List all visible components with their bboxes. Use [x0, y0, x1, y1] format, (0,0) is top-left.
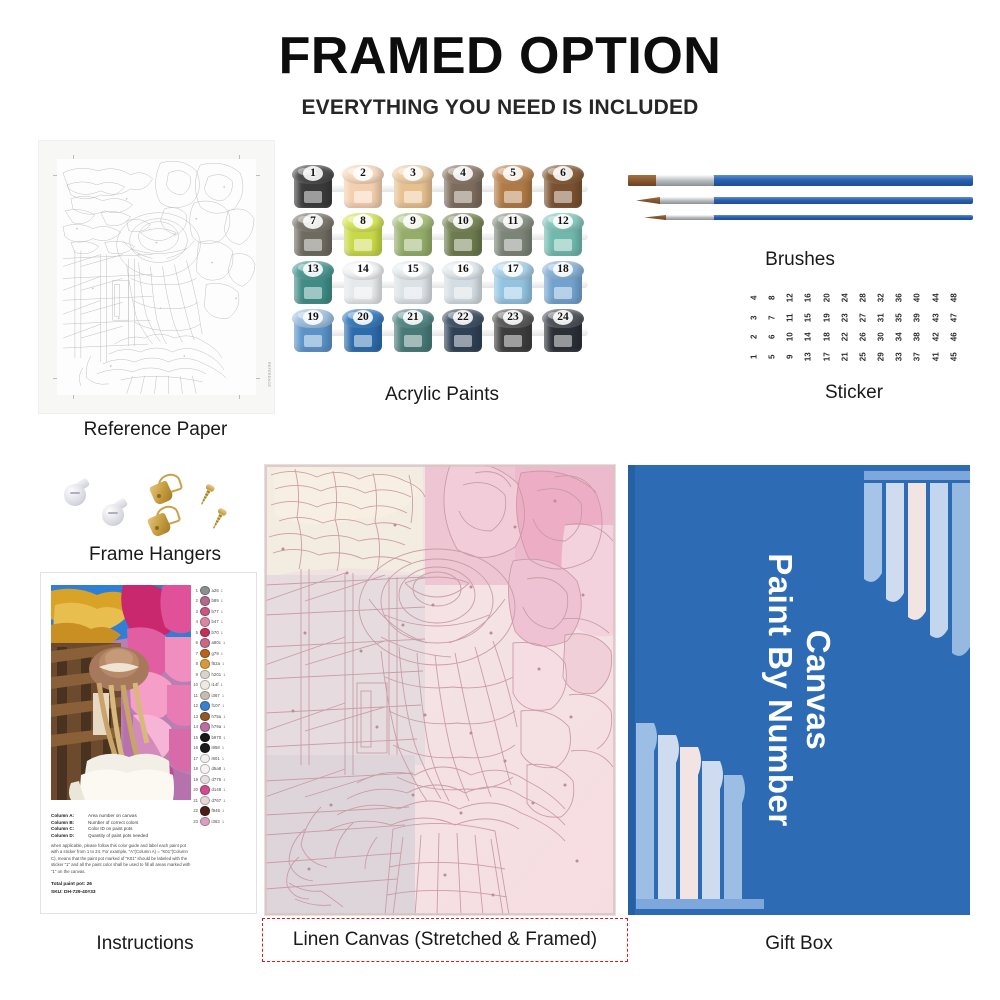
legend-code: a80c [212, 640, 221, 645]
legend-row: 9h2011 [190, 669, 248, 680]
wall-plug [102, 500, 128, 526]
paint-pot-number: 10 [442, 215, 484, 227]
legend-index: 10 [190, 682, 198, 687]
legend-swatch [200, 586, 210, 596]
screw [197, 483, 215, 507]
caption-gift-box: Gift Box [628, 934, 970, 955]
brushes-group [628, 175, 973, 245]
legend-row: 10i14f1 [190, 680, 248, 691]
legend-index: 13 [190, 714, 198, 719]
sticker-number-17: 17 [817, 347, 837, 365]
page-title: FRAMED OPTION [0, 30, 1000, 82]
paint-pot-slot [504, 239, 522, 251]
legend-code: b70 [212, 630, 219, 635]
legend-qty: 1 [223, 724, 225, 729]
paint-pot-18: 18 [542, 261, 584, 305]
paint-pot-slot [554, 335, 572, 347]
legend-code: i363 [212, 819, 220, 824]
sticker-number-8: 8 [762, 289, 782, 307]
paint-pot-number: 7 [292, 215, 334, 227]
legend-swatch [200, 796, 210, 806]
paint-pot-number: 21 [392, 311, 434, 323]
instructions-column-desc: Number of correct colors [88, 820, 138, 825]
legend-code: b970 [212, 735, 222, 740]
paint-pot-slot [504, 335, 522, 347]
paint-pot-23: 23 [492, 309, 534, 353]
instructions-column-desc: Area number on canvas [88, 813, 137, 818]
paint-pot-7: 7 [292, 213, 334, 257]
legend-row: 13h75a1 [190, 711, 248, 722]
sticker-number-25: 25 [853, 347, 873, 365]
paint-pot-number: 17 [492, 263, 534, 275]
legend-row: 6a80c1 [190, 638, 248, 649]
legend-code: h201 [212, 672, 222, 677]
legend-qty: 1 [222, 745, 224, 750]
legend-row: 4b471 [190, 617, 248, 628]
sticker-number-26: 26 [853, 328, 873, 346]
paint-pot-9: 9 [392, 213, 434, 257]
legend-swatch [200, 659, 210, 669]
paint-pot-8: 8 [342, 213, 384, 257]
sticker-number-38: 38 [908, 328, 928, 346]
legend-code: h75a [212, 714, 222, 719]
legend-code: g79 [212, 651, 219, 656]
product-infographic: FRAMED OPTION EVERYTHING YOU NEED IS INC… [0, 0, 1000, 1000]
canvas-lineart [265, 465, 615, 915]
legend-row: 2b891 [190, 596, 248, 607]
instructions-column-key: Column B: [51, 820, 83, 825]
legend-qty: 1 [223, 798, 225, 803]
instructions-column-key: Column C: [51, 826, 83, 831]
paint-pot-number: 15 [392, 263, 434, 275]
sticker-number-31: 31 [871, 308, 891, 326]
paint-pot-slot [354, 335, 372, 347]
sticker-number-24: 24 [835, 289, 855, 307]
sticker-number-36: 36 [890, 289, 910, 307]
instructions-sku: SKU: DH-729-40#33 [51, 889, 191, 897]
legend-qty: 1 [223, 672, 225, 677]
paint-pot-number: 14 [342, 263, 384, 275]
legend-index: 11 [190, 693, 198, 698]
sticker-number-16: 16 [799, 289, 819, 307]
legend-row: 17i9011 [190, 753, 248, 764]
caption-brushes: Brushes [700, 250, 900, 271]
legend-row: 19d7761 [190, 774, 248, 785]
sticker-number-28: 28 [853, 289, 873, 307]
legend-index: 8 [190, 661, 198, 666]
legend-swatch [200, 628, 210, 638]
legend-swatch [200, 754, 210, 764]
legend-qty: 1 [221, 630, 223, 635]
paint-pot-21: 21 [392, 309, 434, 353]
linen-canvas-product [265, 465, 615, 915]
legend-swatch [200, 596, 210, 606]
legend-row: 21d7671 [190, 795, 248, 806]
legend-index: 17 [190, 756, 198, 761]
paint-pot-number: 16 [442, 263, 484, 275]
legend-index: 18 [190, 766, 198, 771]
paint-pot-number: 19 [292, 311, 334, 323]
sticker-number-5: 5 [762, 347, 782, 365]
caption-sticker: Sticker [745, 383, 963, 404]
flat-brush [628, 175, 973, 186]
sticker-sheet: 4812162024283236404448371115192327313539… [745, 288, 963, 366]
legend-swatch [200, 743, 210, 753]
sticker-number-2: 2 [744, 328, 764, 346]
legend-swatch [200, 785, 210, 795]
legend-swatch [200, 649, 210, 659]
legend-swatch [200, 817, 210, 827]
paint-pot-number: 20 [342, 311, 384, 323]
reference-paper-lineart [57, 159, 256, 395]
instructions-color-legend: 1a2612b8913b7714b4715b7016a80c17g7918f62… [190, 585, 248, 885]
sticker-number-21: 21 [835, 347, 855, 365]
legend-code: d767 [212, 798, 222, 803]
paint-pot-19: 19 [292, 309, 334, 353]
legend-code: d5a8 [212, 766, 222, 771]
sticker-number-37: 37 [908, 347, 928, 365]
detail-brush [644, 215, 973, 220]
paint-pot-number: 22 [442, 311, 484, 323]
paint-pot-slot [454, 191, 472, 203]
paint-pot-24: 24 [542, 309, 584, 353]
paint-pot-slot [554, 287, 572, 299]
frame-hangers-group [62, 470, 242, 540]
legend-code: f62a [212, 661, 221, 666]
legend-row: 15b9701 [190, 732, 248, 743]
d-ring-hanger [148, 506, 176, 536]
legend-swatch [200, 670, 210, 680]
sticker-number-44: 44 [926, 289, 946, 307]
legend-index: 7 [190, 651, 198, 656]
sticker-number-22: 22 [835, 328, 855, 346]
legend-swatch [200, 722, 210, 732]
instructions-color-preview [51, 585, 191, 800]
paint-pot-number: 3 [392, 167, 434, 179]
legend-qty: 1 [221, 598, 223, 603]
round-brush [636, 197, 973, 204]
instructions-column-row: Column B:Number of correct colors [51, 820, 191, 825]
sticker-number-20: 20 [817, 289, 837, 307]
legend-swatch [200, 680, 210, 690]
paint-pot-slot [554, 239, 572, 251]
legend-swatch [200, 607, 210, 617]
legend-index: 14 [190, 724, 198, 729]
legend-code: b47 [212, 619, 219, 624]
legend-index: 4 [190, 619, 198, 624]
legend-qty: 1 [221, 619, 223, 624]
instructions-sheet: 1a2612b8913b7714b4715b7016a80c17g7918f62… [40, 572, 257, 914]
legend-row: 3b771 [190, 606, 248, 617]
legend-swatch [200, 806, 210, 816]
legend-qty: 1 [221, 588, 223, 593]
paint-pot-11: 11 [492, 213, 534, 257]
sticker-number-48: 48 [944, 289, 964, 307]
sticker-number-32: 32 [871, 289, 891, 307]
legend-code: i958 [212, 745, 220, 750]
paint-pot-slot [404, 335, 422, 347]
legend-index: 15 [190, 735, 198, 740]
screw [209, 507, 227, 531]
sticker-number-29: 29 [871, 347, 891, 365]
caption-instructions: Instructions [30, 934, 260, 955]
paint-pot-number: 4 [442, 167, 484, 179]
paint-pot-slot [354, 191, 372, 203]
gift-box-title: Canvas Paint By Number [761, 553, 837, 826]
sticker-number-45: 45 [944, 347, 964, 365]
sticker-number-12: 12 [781, 289, 801, 307]
paint-pot-slot [454, 335, 472, 347]
legend-qty: 1 [223, 777, 225, 782]
legend-index: 5 [190, 630, 198, 635]
legend-swatch [200, 775, 210, 785]
legend-row: 18d5a81 [190, 764, 248, 775]
instructions-text-block: Column A:Area number on canvasColumn B:N… [51, 813, 191, 897]
sticker-number-43: 43 [926, 308, 946, 326]
sticker-number-7: 7 [762, 308, 782, 326]
legend-index: 6 [190, 640, 198, 645]
instructions-column-row: Column A:Area number on canvas [51, 813, 191, 818]
paint-pot-slot [304, 191, 322, 203]
sticker-number-27: 27 [853, 308, 873, 326]
legend-index: 22 [190, 808, 198, 813]
legend-qty: 1 [223, 735, 225, 740]
instructions-column-desc: Quantity of paint pots needed [88, 833, 148, 838]
sticker-number-14: 14 [799, 328, 819, 346]
sticker-number-11: 11 [781, 308, 801, 326]
paint-pot-number: 6 [542, 167, 584, 179]
legend-swatch [200, 764, 210, 774]
legend-row: 22f9461 [190, 806, 248, 817]
legend-index: 20 [190, 787, 198, 792]
legend-row: 20d1481 [190, 785, 248, 796]
legend-qty: 1 [223, 766, 225, 771]
legend-code: b89 [212, 598, 219, 603]
lineart-svg [57, 159, 256, 394]
paint-pot-number: 1 [292, 167, 334, 179]
paint-pot-4: 4 [442, 165, 484, 209]
legend-swatch [200, 691, 210, 701]
legend-qty: 1 [223, 640, 225, 645]
legend-qty: 1 [222, 819, 224, 824]
caption-acrylic-paints: Acrylic Paints [292, 385, 592, 406]
d-ring-hanger [150, 474, 178, 504]
legend-code: i367 [212, 693, 220, 698]
reference-paper-panel: REFERENCE [38, 140, 275, 414]
legend-row: 5b701 [190, 627, 248, 638]
legend-row: 14h79a1 [190, 722, 248, 733]
legend-code: d776 [212, 777, 222, 782]
legend-qty: 1 [222, 756, 224, 761]
paint-pot-number: 12 [542, 215, 584, 227]
legend-qty: 1 [222, 703, 224, 708]
legend-index: 9 [190, 672, 198, 677]
acrylic-paints-group: 123456789101112131415161718192021222324 [292, 165, 592, 365]
paint-pot-number: 8 [342, 215, 384, 227]
paint-pot-number: 11 [492, 215, 534, 227]
paint-pot-slot [304, 287, 322, 299]
gift-box-line2: Paint By Number [762, 553, 799, 826]
sticker-number-30: 30 [871, 328, 891, 346]
paint-pot-13: 13 [292, 261, 334, 305]
legend-qty: 1 [222, 808, 224, 813]
legend-row: 23i3631 [190, 816, 248, 827]
sticker-number-10: 10 [781, 328, 801, 346]
legend-qty: 1 [223, 787, 225, 792]
sticker-number-4: 4 [744, 289, 764, 307]
paint-pot-slot [304, 335, 322, 347]
sticker-number-3: 3 [744, 308, 764, 326]
legend-index: 23 [190, 819, 198, 824]
paint-pot-number: 23 [492, 311, 534, 323]
sticker-number-1: 1 [744, 347, 764, 365]
instructions-column-row: Column D:Quantity of paint pots needed [51, 833, 191, 838]
legend-row: 16i9581 [190, 743, 248, 754]
sticker-number-19: 19 [817, 308, 837, 326]
legend-index: 19 [190, 777, 198, 782]
sticker-number-6: 6 [762, 328, 782, 346]
paint-pot-slot [404, 239, 422, 251]
sticker-number-42: 42 [926, 328, 946, 346]
paint-pot-6: 6 [542, 165, 584, 209]
paint-pot-2: 2 [342, 165, 384, 209]
legend-qty: 1 [221, 651, 223, 656]
gift-box-product: Canvas Paint By Number [628, 465, 970, 915]
sticker-number-9: 9 [781, 347, 801, 365]
paint-pot-slot [354, 239, 372, 251]
sticker-number-23: 23 [835, 308, 855, 326]
legend-code: i14f [212, 682, 219, 687]
paint-pot-slot [454, 239, 472, 251]
paint-pot-slot [504, 191, 522, 203]
paint-pot-10: 10 [442, 213, 484, 257]
legend-row: 7g791 [190, 648, 248, 659]
paint-pot-17: 17 [492, 261, 534, 305]
sticker-number-34: 34 [890, 328, 910, 346]
legend-index: 12 [190, 703, 198, 708]
paint-pot-slot [354, 287, 372, 299]
page-subtitle: EVERYTHING YOU NEED IS INCLUDED [0, 97, 1000, 118]
sticker-number-41: 41 [926, 347, 946, 365]
paint-pot-slot [404, 287, 422, 299]
paint-pot-number: 13 [292, 263, 334, 275]
legend-qty: 1 [221, 682, 223, 687]
legend-swatch [200, 701, 210, 711]
caption-linen-canvas: Linen Canvas (Stretched & Framed) [262, 930, 628, 951]
wall-plug [64, 480, 90, 506]
paint-pot-number: 2 [342, 167, 384, 179]
caption-reference-paper: Reference Paper [38, 420, 273, 441]
paint-pot-number: 9 [392, 215, 434, 227]
instructions-note: when applicable, please follow this colo… [51, 843, 191, 876]
paint-pot-number: 18 [542, 263, 584, 275]
sticker-number-47: 47 [944, 308, 964, 326]
paint-pot-slot [504, 287, 522, 299]
legend-qty: 1 [222, 693, 224, 698]
legend-qty: 1 [223, 714, 225, 719]
legend-swatch [200, 712, 210, 722]
legend-row: 11i3671 [190, 690, 248, 701]
instructions-column-key: Column A: [51, 813, 83, 818]
gift-box-line1: Canvas [800, 630, 837, 750]
paint-pot-slot [454, 287, 472, 299]
paint-pot-1: 1 [292, 165, 334, 209]
legend-index: 3 [190, 609, 198, 614]
instructions-column-row: Column C:Color ID on paint pots [51, 826, 191, 831]
legend-code: a26 [212, 588, 219, 593]
sticker-number-35: 35 [890, 308, 910, 326]
legend-row: 8f62a1 [190, 659, 248, 670]
legend-row: 12f1071 [190, 701, 248, 712]
paint-pot-slot [554, 191, 572, 203]
legend-code: d148 [212, 787, 222, 792]
legend-code: b77 [212, 609, 219, 614]
paint-pot-5: 5 [492, 165, 534, 209]
caption-frame-hangers: Frame Hangers [40, 545, 270, 566]
paint-pot-slot [304, 239, 322, 251]
paint-pot-16: 16 [442, 261, 484, 305]
paint-pot-22: 22 [442, 309, 484, 353]
paint-pot-number: 5 [492, 167, 534, 179]
paint-pot-14: 14 [342, 261, 384, 305]
legend-qty: 1 [221, 609, 223, 614]
legend-index: 16 [190, 745, 198, 750]
paint-pot-number: 24 [542, 311, 584, 323]
sticker-number-46: 46 [944, 328, 964, 346]
legend-index: 1 [190, 588, 198, 593]
sticker-number-40: 40 [908, 289, 928, 307]
legend-swatch [200, 733, 210, 743]
paint-pot-20: 20 [342, 309, 384, 353]
sticker-number-15: 15 [799, 308, 819, 326]
legend-code: f946 [212, 808, 221, 813]
legend-qty: 1 [222, 661, 224, 666]
legend-row: 1a261 [190, 585, 248, 596]
instructions-column-desc: Color ID on paint pots [88, 826, 132, 831]
paint-pot-3: 3 [392, 165, 434, 209]
legend-code: h79a [212, 724, 222, 729]
reference-paper-sidecode: REFERENCE [267, 362, 271, 387]
legend-code: f107 [212, 703, 221, 708]
paint-pot-15: 15 [392, 261, 434, 305]
sticker-number-18: 18 [817, 328, 837, 346]
paint-pot-12: 12 [542, 213, 584, 257]
legend-swatch [200, 638, 210, 648]
sticker-number-33: 33 [890, 347, 910, 365]
legend-code: i901 [212, 756, 220, 761]
legend-index: 21 [190, 798, 198, 803]
paint-pot-slot [404, 191, 422, 203]
instructions-column-key: Column D: [51, 833, 83, 838]
instructions-total: Total paint pot: 26 [51, 881, 191, 889]
sticker-number-13: 13 [799, 347, 819, 365]
legend-swatch [200, 617, 210, 627]
legend-index: 2 [190, 598, 198, 603]
sticker-number-39: 39 [908, 308, 928, 326]
